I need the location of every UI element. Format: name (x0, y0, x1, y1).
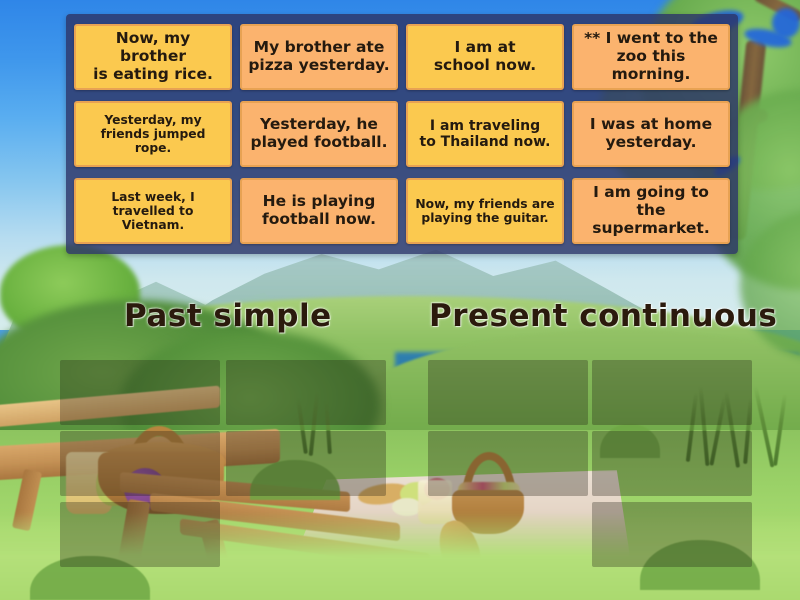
sortable-card[interactable]: He is playing football now. (240, 178, 398, 244)
card-line: Last week, I (81, 190, 225, 204)
card-line: Now, my brother (81, 30, 225, 66)
card-line: zoo this morning. (579, 48, 723, 84)
card-line: is eating rice. (81, 66, 225, 84)
card-line: supermarket. (579, 220, 723, 238)
card-row: Last week, I travelled to Vietnam. He is… (74, 178, 730, 244)
dropzone-present-continuous-4[interactable] (592, 431, 752, 496)
dropzone-present-continuous-2[interactable] (592, 360, 752, 425)
sortable-card[interactable]: Last week, I travelled to Vietnam. (74, 178, 232, 244)
card-row: Now, my brother is eating rice. My broth… (74, 24, 730, 90)
card-line: school now. (434, 57, 536, 75)
card-line: I am going to the (579, 184, 723, 220)
category-title-past-simple: Past simple (124, 298, 332, 334)
card-line: Yesterday, he (250, 116, 387, 134)
sortable-card[interactable]: I was at home yesterday. (572, 101, 730, 167)
sortable-card[interactable]: I am going to the supermarket. (572, 178, 730, 244)
dropzone-past-simple-2[interactable] (226, 360, 386, 425)
card-line: travelled to Vietnam. (81, 204, 225, 233)
card-line: My brother ate (248, 39, 389, 57)
dropzone-past-simple-1[interactable] (60, 360, 220, 425)
card-line: He is playing (262, 193, 376, 211)
category-title-present-continuous: Present continuous (429, 298, 777, 334)
card-line: ** I went to the (579, 30, 723, 48)
sky-patch (772, 8, 800, 38)
card-line: Yesterday, my (81, 113, 225, 127)
dropzone-present-continuous-1[interactable] (428, 360, 588, 425)
card-line: pizza yesterday. (248, 57, 389, 75)
sortable-card[interactable]: Now, my friends are playing the guitar. (406, 178, 564, 244)
sortable-card[interactable]: I am at school now. (406, 24, 564, 90)
dropzone-past-simple-4[interactable] (226, 431, 386, 496)
card-line: I was at home (590, 116, 712, 134)
sortable-card[interactable]: My brother ate pizza yesterday. (240, 24, 398, 90)
card-tray: Now, my brother is eating rice. My broth… (66, 14, 738, 254)
card-line: I am at (434, 39, 536, 57)
card-row: Yesterday, my friends jumped rope. Yeste… (74, 101, 730, 167)
dropzone-past-simple-5[interactable] (60, 502, 220, 567)
card-line: I am traveling (420, 118, 551, 134)
card-line: yesterday. (590, 134, 712, 152)
dropzone-present-continuous-3[interactable] (428, 431, 588, 496)
sortable-card[interactable]: Yesterday, my friends jumped rope. (74, 101, 232, 167)
dropzone-past-simple-3[interactable] (60, 431, 220, 496)
dropzone-present-continuous-5[interactable] (592, 502, 752, 567)
sortable-card[interactable]: Yesterday, he played football. (240, 101, 398, 167)
card-line: friends jumped rope. (81, 127, 225, 156)
card-line: football now. (262, 211, 376, 229)
sortable-card[interactable]: Now, my brother is eating rice. (74, 24, 232, 90)
card-line: playing the guitar. (415, 211, 554, 225)
sortable-card[interactable]: I am traveling to Thailand now. (406, 101, 564, 167)
card-line: played football. (250, 134, 387, 152)
card-line: Now, my friends are (415, 197, 554, 211)
card-line: to Thailand now. (420, 134, 551, 150)
sortable-card[interactable]: ** I went to the zoo this morning. (572, 24, 730, 90)
